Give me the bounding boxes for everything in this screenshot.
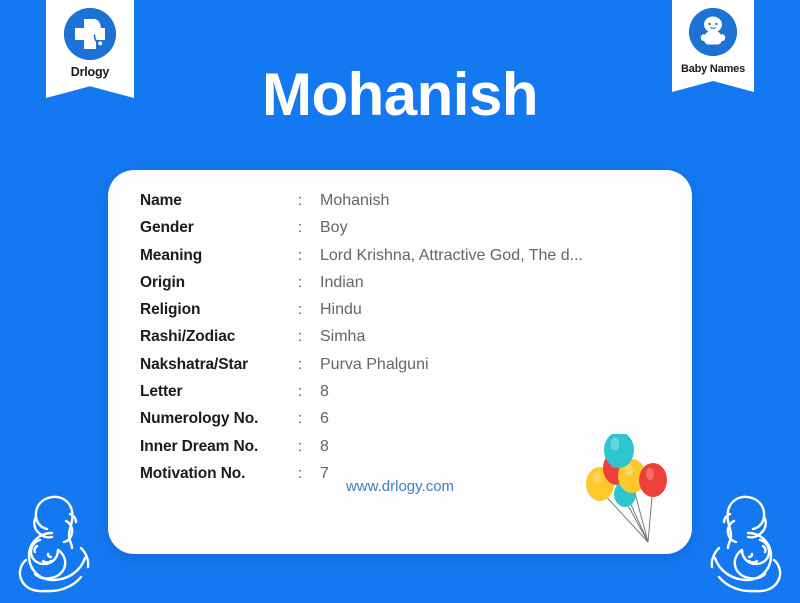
detail-separator: : (298, 383, 320, 400)
detail-row-numerology-no: Numerology No. : 6 (140, 410, 583, 437)
detail-label: Religion (140, 301, 298, 319)
detail-value: Indian (320, 274, 364, 292)
details-list: Name : Mohanish Gender : Boy Meaning : L… (140, 192, 583, 492)
detail-separator: : (298, 356, 320, 373)
detail-row-nakshatra-star: Nakshatra/Star : Purva Phalguni (140, 356, 583, 383)
detail-label: Inner Dream No. (140, 438, 298, 456)
detail-row-origin: Origin : Indian (140, 274, 583, 301)
detail-value: Boy (320, 219, 348, 237)
detail-value: Hindu (320, 301, 362, 319)
detail-value: Mohanish (320, 192, 389, 210)
detail-value: 8 (320, 438, 329, 456)
detail-row-rashi-zodiac: Rashi/Zodiac : Simha (140, 328, 583, 355)
detail-label: Numerology No. (140, 410, 298, 428)
website-url[interactable]: www.drlogy.com (108, 478, 692, 495)
detail-row-name: Name : Mohanish (140, 192, 583, 219)
detail-row-gender: Gender : Boy (140, 219, 583, 246)
detail-separator: : (298, 219, 320, 236)
detail-row-meaning: Meaning : Lord Krishna, Attractive God, … (140, 247, 583, 274)
detail-label: Name (140, 192, 298, 210)
detail-separator: : (298, 328, 320, 345)
detail-separator: : (298, 274, 320, 291)
detail-label: Origin (140, 274, 298, 292)
page-title: Mohanish (0, 62, 800, 128)
doctor-medical-cross-icon (64, 8, 116, 60)
detail-row-letter: Letter : 8 (140, 383, 583, 410)
mother-baby-icon-right (696, 488, 796, 598)
detail-value: Lord Krishna, Attractive God, The d... (320, 247, 583, 265)
detail-separator: : (298, 247, 320, 264)
detail-label: Gender (140, 219, 298, 237)
detail-value: Simha (320, 328, 365, 346)
detail-separator: : (298, 438, 320, 455)
detail-value: Purva Phalguni (320, 356, 429, 374)
detail-row-inner-dream-no: Inner Dream No. : 8 (140, 438, 583, 465)
detail-label: Meaning (140, 247, 298, 265)
detail-label: Letter (140, 383, 298, 401)
detail-value: 8 (320, 383, 329, 401)
detail-label: Nakshatra/Star (140, 356, 298, 374)
detail-separator: : (298, 410, 320, 427)
detail-value: 6 (320, 410, 329, 428)
detail-row-religion: Religion : Hindu (140, 301, 583, 328)
baby-name-card-page: { "theme": { "background_blue": "#1478f0… (0, 0, 800, 600)
mother-baby-icon-left (4, 488, 104, 598)
detail-separator: : (298, 301, 320, 318)
name-details-card: Name : Mohanish Gender : Boy Meaning : L… (108, 170, 692, 554)
detail-separator: : (298, 192, 320, 209)
baby-icon (689, 8, 737, 56)
detail-label: Rashi/Zodiac (140, 328, 298, 346)
